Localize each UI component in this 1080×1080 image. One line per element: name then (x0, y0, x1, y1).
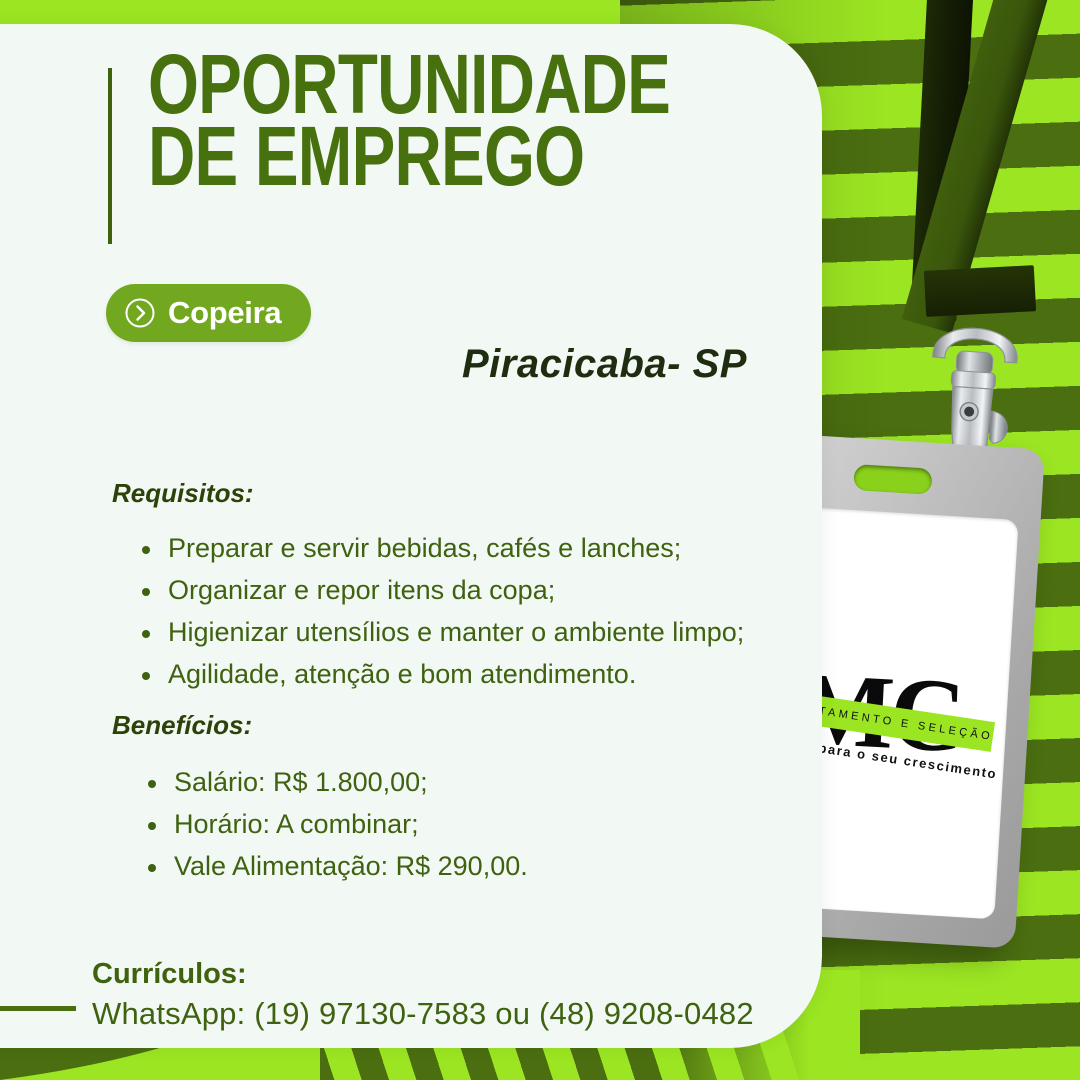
footer-heading: Currículos: (92, 958, 754, 991)
badge-slot (853, 464, 932, 495)
title-block: OPORTUNIDADE DE EMPREGO (148, 48, 817, 192)
footer-contact-block: Currículos: WhatsApp: (19) 97130-7583 ou… (92, 958, 754, 1032)
requirements-section: Requisitos: Preparar e servir bebidas, c… (112, 478, 744, 699)
role-badge-label: Copeira (168, 295, 281, 331)
footer-contact: WhatsApp: (19) 97130-7583 ou (48) 9208-0… (92, 996, 754, 1032)
requirements-list: Preparar e servir bebidas, cafés e lanch… (112, 531, 744, 692)
benefits-list: Salário: R$ 1.800,00; Horário: A combina… (112, 765, 528, 884)
list-item: Horário: A combinar; (146, 807, 528, 842)
job-location: Piracicaba- SP (462, 342, 747, 387)
benefits-section: Benefícios: Salário: R$ 1.800,00; Horári… (112, 710, 528, 891)
benefits-heading: Benefícios: (112, 710, 528, 741)
list-item: Higienizar utensílios e manter o ambient… (140, 615, 744, 650)
page-title: OPORTUNIDADE DE EMPREGO (148, 48, 670, 192)
list-item: Vale Alimentação: R$ 290,00. (146, 849, 528, 884)
job-opportunity-poster: MC RECRUTAMENTO E SELEÇÃO juntos para o … (0, 0, 1080, 1080)
chevron-right-circle-icon (124, 297, 156, 329)
list-item: Preparar e servir bebidas, cafés e lanch… (140, 531, 744, 566)
list-item: Agilidade, atenção e bom atendimento. (140, 657, 744, 692)
list-item: Organizar e repor itens da copa; (140, 573, 744, 608)
role-badge[interactable]: Copeira (106, 284, 311, 342)
requirements-heading: Requisitos: (112, 478, 744, 509)
title-accent-rule (108, 68, 112, 244)
list-item: Salário: R$ 1.800,00; (146, 765, 528, 800)
footer-dash (0, 1006, 76, 1011)
